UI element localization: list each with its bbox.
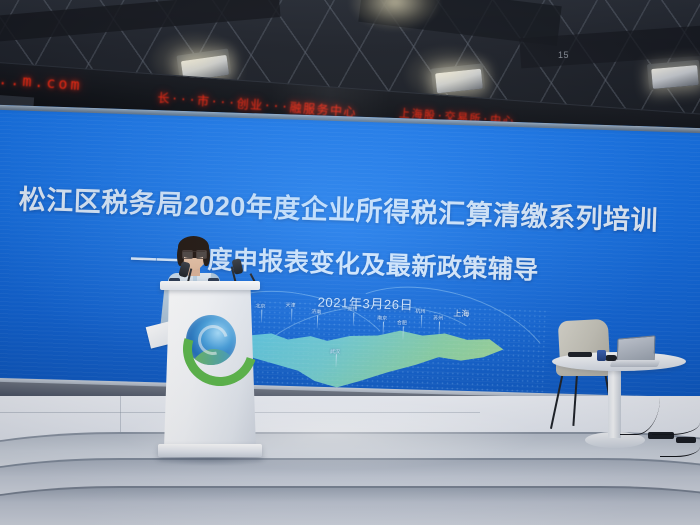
map-label-shanghai: 上海: [453, 308, 469, 320]
desk-object: [605, 355, 617, 361]
studio-scene: 15 ...m.com 长···市···创业···融服务中心 上海股·交易所·中…: [0, 0, 700, 525]
map-label: 武汉: [330, 348, 340, 355]
glasses-bridge: [182, 251, 205, 258]
slide-title-line-1: 松江区税务局2020年度企业所得税汇算清缴系列培训: [18, 178, 659, 238]
studio-light-icon: [651, 65, 699, 89]
stage-step: [0, 486, 700, 525]
desk-blue-object: [597, 350, 606, 361]
map-label: 苏州: [433, 314, 443, 321]
podium-lectern-top: [160, 281, 260, 290]
map-label: 南京: [377, 314, 387, 321]
map-label: 天津: [285, 301, 295, 308]
floor-seam: [120, 396, 121, 432]
map-label: 北京: [255, 302, 265, 309]
truss-marker-label: 15: [558, 50, 569, 60]
map-label: 杭州: [415, 308, 425, 315]
map-label: 郑州: [347, 305, 357, 312]
laptop-keyboard-base: [610, 360, 661, 367]
desk-remote: [568, 352, 592, 357]
podium-base: [158, 444, 262, 457]
map-label: 合肥: [397, 319, 407, 326]
map-label: 济南: [311, 308, 321, 315]
ticker-text-segment-1: ...m.com: [0, 69, 83, 94]
